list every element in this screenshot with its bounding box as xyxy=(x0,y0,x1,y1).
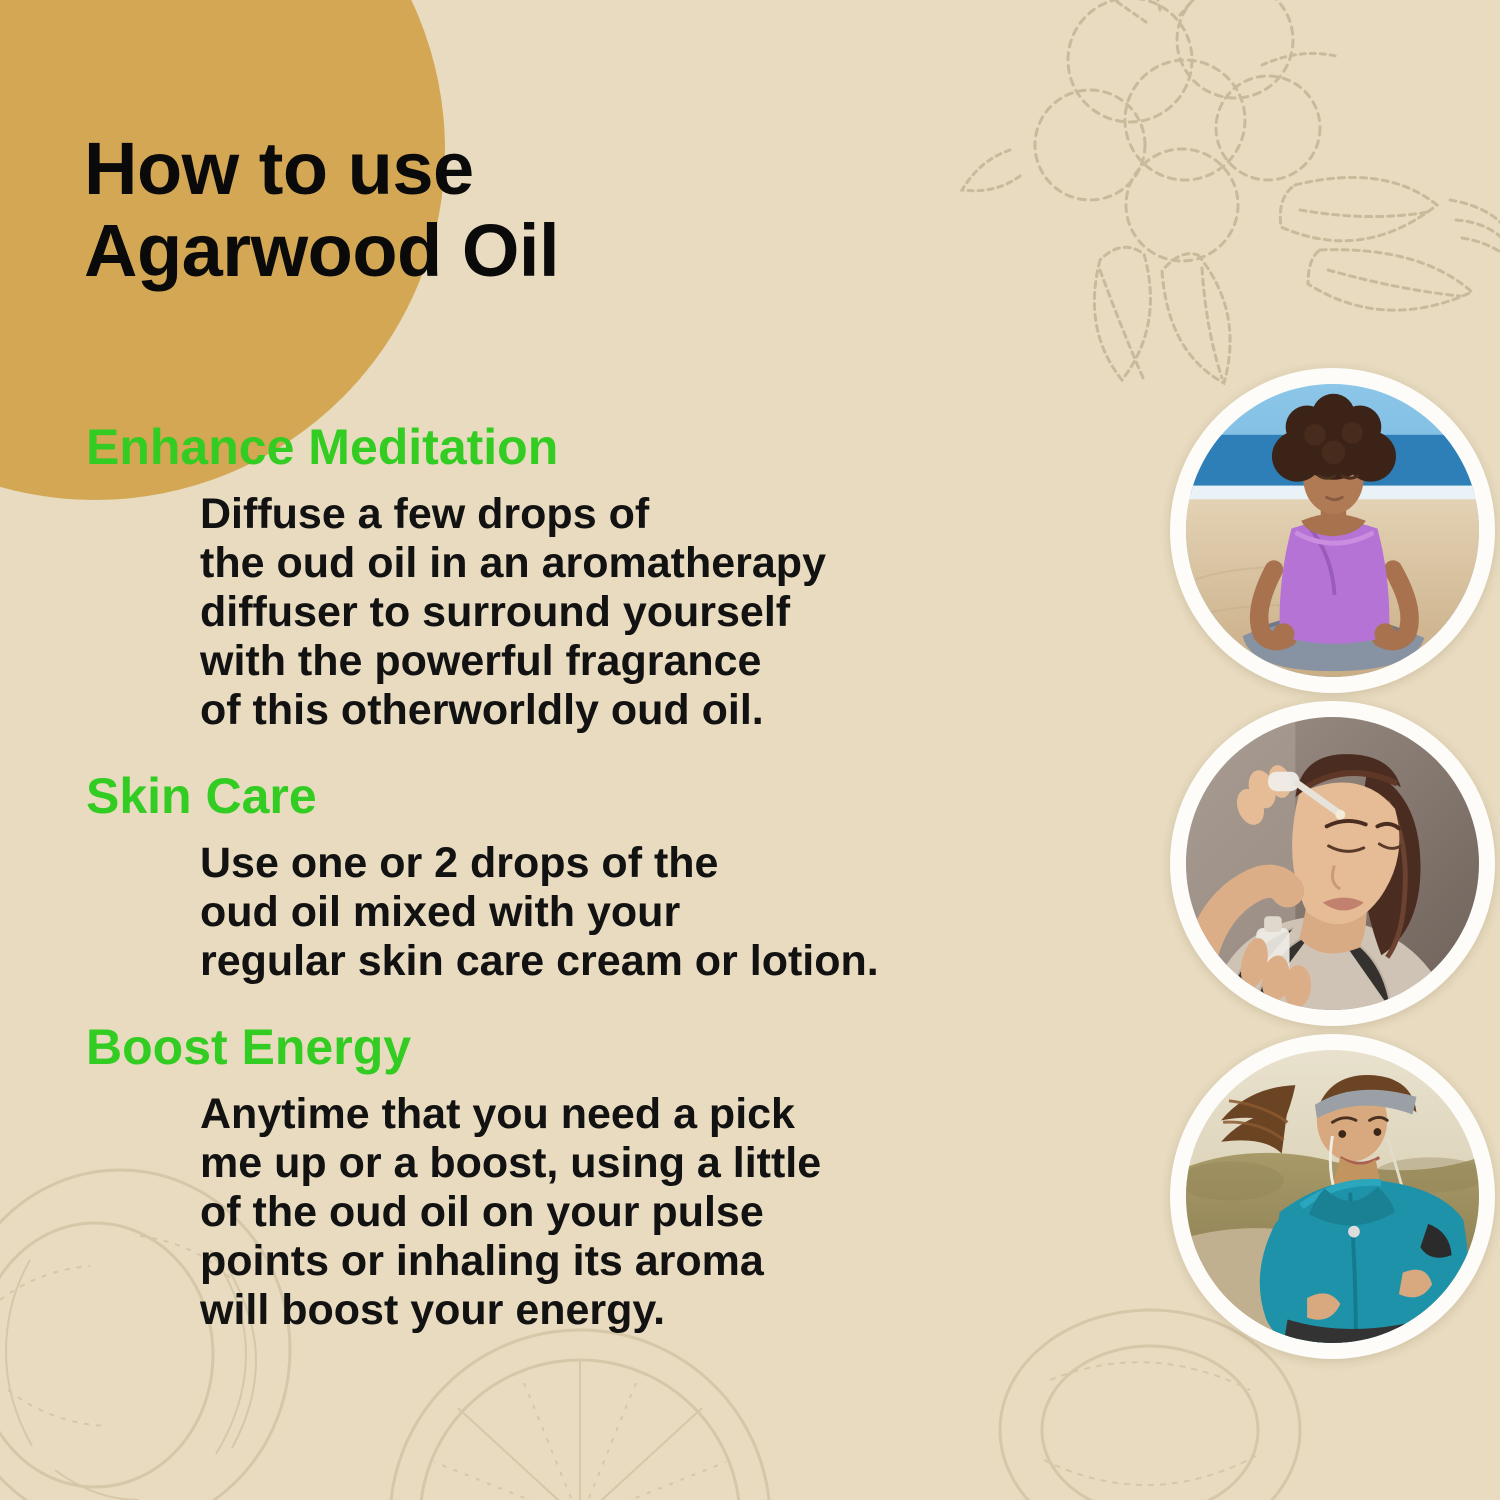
poster-canvas: How to use Agarwood Oil Enhance Meditati… xyxy=(0,0,1500,1500)
skin-care-photo-image xyxy=(1186,717,1479,1010)
meditation-photo xyxy=(1170,368,1495,693)
boost-energy-photo xyxy=(1170,1034,1495,1359)
boost-energy-photo-image xyxy=(1186,1050,1479,1343)
usage-sections: Enhance Meditation Diffuse a few drops o… xyxy=(0,420,1120,1335)
section-boost-energy: Boost Energy Anytime that you need a pic… xyxy=(0,1020,1120,1335)
section-heading-boost-energy: Boost Energy xyxy=(0,1020,1120,1074)
section-body-boost-energy: Anytime that you need a pick me up or a … xyxy=(0,1074,1120,1335)
section-enhance-meditation: Enhance Meditation Diffuse a few drops o… xyxy=(0,420,1120,735)
section-heading-enhance-meditation: Enhance Meditation xyxy=(0,420,1120,474)
photo-stack xyxy=(1170,368,1500,1367)
skin-care-photo xyxy=(1170,701,1495,1026)
page-title-line-2: Agarwood Oil xyxy=(84,214,844,288)
meditation-photo-image xyxy=(1186,384,1479,677)
section-skin-care: Skin Care Use one or 2 drops of the oud … xyxy=(0,769,1120,986)
section-body-enhance-meditation: Diffuse a few drops of the oud oil in an… xyxy=(0,474,1120,735)
section-body-skin-care: Use one or 2 drops of the oud oil mixed … xyxy=(0,823,1120,986)
page-title-line-1: How to use xyxy=(84,132,844,206)
page-title: How to use Agarwood Oil xyxy=(84,132,844,288)
section-heading-skin-care: Skin Care xyxy=(0,769,1120,823)
